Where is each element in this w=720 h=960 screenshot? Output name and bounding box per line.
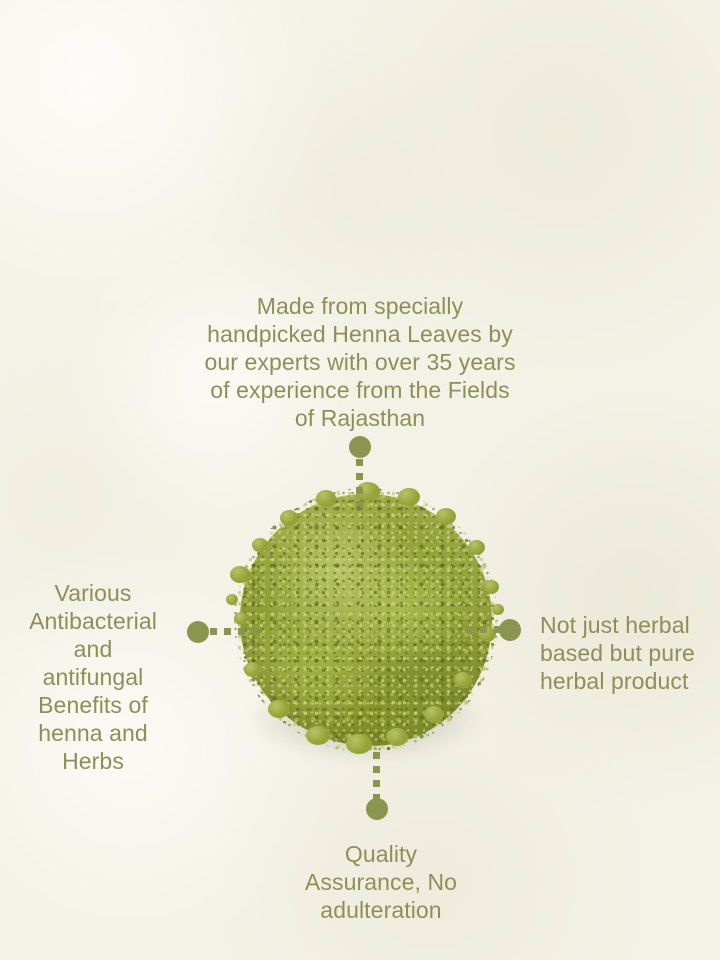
powder-crumb — [492, 604, 504, 615]
powder-pile — [240, 494, 492, 746]
powder-crumb — [386, 728, 408, 746]
powder-crumb — [306, 726, 330, 745]
powder-crumb — [234, 612, 248, 625]
powder-crumb — [226, 594, 238, 605]
connector-line-left — [210, 628, 262, 635]
callout-text-top: Made from specially handpicked Henna Lea… — [168, 292, 552, 432]
powder-crumb — [436, 508, 456, 525]
powder-crumb — [230, 566, 250, 583]
powder-crumb — [398, 488, 420, 506]
callout-text-right: Not just herbal based but pure herbal pr… — [540, 611, 720, 695]
powder-crumb — [484, 580, 499, 594]
powder-crumb — [454, 672, 472, 688]
connector-line-bottom — [373, 752, 380, 800]
infographic-canvas: Made from specially handpicked Henna Lea… — [0, 0, 720, 960]
connector-dot-left — [187, 621, 209, 643]
henna-powder-image — [232, 488, 498, 788]
powder-crumb — [244, 662, 261, 677]
powder-crumb — [316, 490, 336, 507]
powder-crumb — [280, 510, 298, 526]
connector-dot-bottom — [366, 798, 388, 820]
powder-crumb — [424, 706, 444, 723]
callout-text-bottom: Quality Assurance, No adulteration — [272, 840, 490, 924]
connector-line-right — [466, 626, 502, 633]
connector-line-top — [356, 459, 363, 507]
powder-crumb — [268, 700, 290, 718]
powder-crumb — [346, 734, 372, 754]
connector-dot-right — [499, 619, 521, 641]
connector-dot-top — [349, 436, 371, 458]
powder-crumb — [252, 538, 268, 552]
callout-text-left: Various Antibacterial and antifungal Ben… — [4, 579, 182, 775]
powder-crumb — [468, 540, 485, 555]
